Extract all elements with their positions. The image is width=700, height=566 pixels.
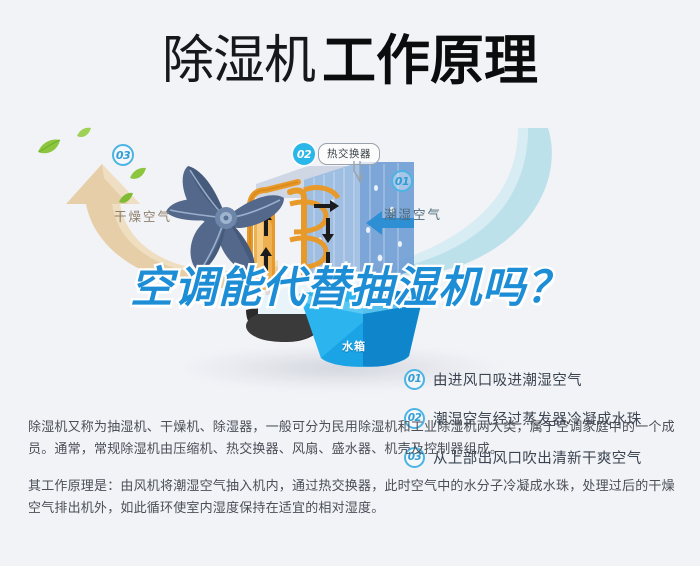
title-bold-part: 工作原理 (322, 34, 538, 88)
title-light-part: 除湿机 (162, 35, 315, 87)
water-tank (297, 282, 425, 374)
moist-air-label: 潮湿空气 (384, 204, 442, 223)
dry-air-label: 干燥空气 (114, 206, 172, 225)
callout-heat-exchanger: 热交换器 (318, 143, 380, 165)
leaf-icon (76, 124, 92, 143)
callout-pointer-icon (352, 161, 366, 183)
fan-blades (160, 160, 295, 280)
leaf-icon (129, 166, 147, 185)
diagram-illustration: 水箱 (0, 120, 700, 405)
leaf-icon (36, 138, 62, 160)
legend-badge-01: 01 (404, 369, 425, 390)
water-tank-label: 水箱 (342, 338, 366, 354)
body-paragraph-1: 除湿机又称为抽湿机、干燥机、除湿器，一般可分为民用除湿机和工业除湿机两大类，属于… (28, 417, 678, 461)
page-root: 除湿机 工作原理 (0, 0, 700, 566)
diagram-badge-02: 02 (293, 143, 315, 165)
diagram-badge-03: 03 (112, 144, 134, 166)
legend-text-01: 由进风口吸进潮湿空气 (433, 369, 582, 390)
article-body: 除湿机又称为抽湿机、干燥机、除湿器，一般可分为民用除湿机和工业除湿机两大类，属于… (28, 417, 678, 520)
page-title: 除湿机 工作原理 (0, 24, 700, 98)
diagram-badge-01: 01 (391, 170, 413, 192)
body-paragraph-2: 其工作原理是：由风机将潮湿空气抽入机内，通过热交换器，此时空气中的水分子冷凝成水… (28, 476, 678, 520)
legend-item: 01 由进风口吸进潮湿空气 (404, 368, 700, 390)
